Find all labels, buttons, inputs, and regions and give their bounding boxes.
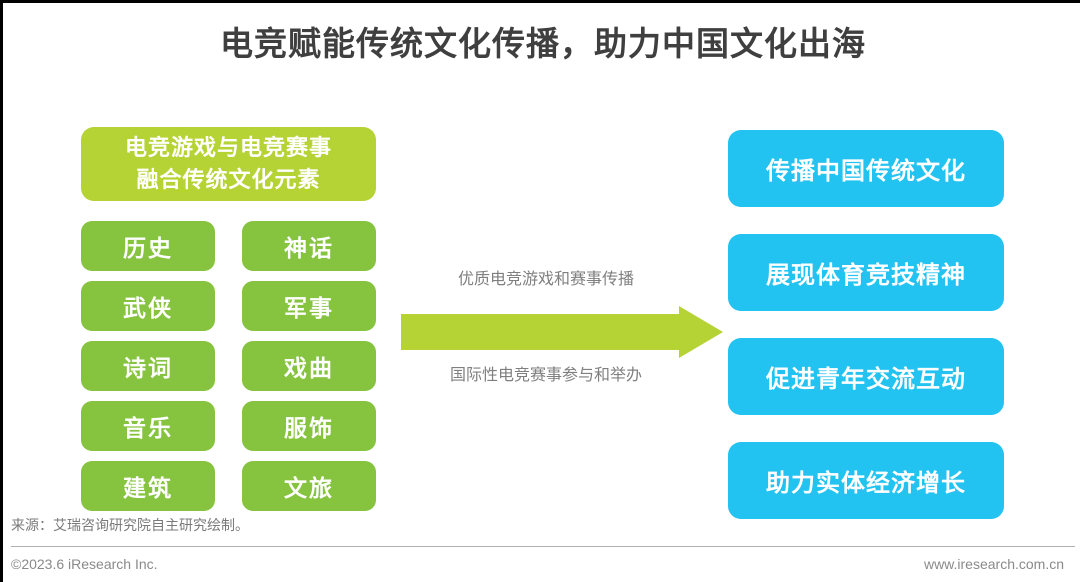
outcome-box[interactable]: 传播中国传统文化 (728, 130, 1004, 207)
left-panel-header-line-2: 融合传统文化元素 (136, 164, 320, 196)
footer-divider (11, 546, 1075, 547)
tag-item[interactable]: 音乐 (81, 401, 215, 451)
tag-item[interactable]: 武侠 (81, 281, 215, 331)
outcome-box[interactable]: 展现体育竞技精神 (728, 234, 1004, 311)
left-panel-header-card: 电竞游戏与电竞赛事 融合传统文化元素 (81, 127, 376, 201)
page-title: 电竞赋能传统文化传播，助力中国文化出海 (3, 17, 1080, 65)
tag-item[interactable]: 文旅 (242, 461, 376, 511)
outcome-box[interactable]: 促进青年交流互动 (728, 338, 1004, 415)
left-panel-header-line-1: 电竞游戏与电竞赛事 (125, 132, 332, 164)
tag-item[interactable]: 诗词 (81, 341, 215, 391)
connector-label-top: 优质电竞游戏和赛事传播 (401, 265, 691, 289)
tag-item[interactable]: 历史 (81, 221, 215, 271)
tag-item[interactable]: 军事 (242, 281, 376, 331)
outcome-box[interactable]: 助力实体经济增长 (728, 442, 1004, 519)
source-note: 来源：艾瑞咨询研究院自主研究绘制。 (11, 515, 249, 535)
tag-item[interactable]: 戏曲 (242, 341, 376, 391)
copyright-text: ©2023.6 iResearch Inc. (11, 556, 158, 572)
flow-connector: 优质电竞游戏和赛事传播 国际性电竞赛事参与和举办 (401, 265, 723, 385)
right-arrow-icon (401, 306, 723, 358)
tag-item[interactable]: 建筑 (81, 461, 215, 511)
website-url: www.iresearch.com.cn (924, 556, 1064, 572)
connector-label-bottom: 国际性电竞赛事参与和举办 (401, 361, 691, 385)
slide-canvas: 电竞赋能传统文化传播，助力中国文化出海 电竞游戏与电竞赛事 融合传统文化元素 历… (0, 0, 1080, 582)
tag-item[interactable]: 神话 (242, 221, 376, 271)
culture-element-tag-grid: 历史 神话 武侠 军事 诗词 戏曲 音乐 服饰 建筑 文旅 (81, 221, 377, 511)
tag-item[interactable]: 服饰 (242, 401, 376, 451)
